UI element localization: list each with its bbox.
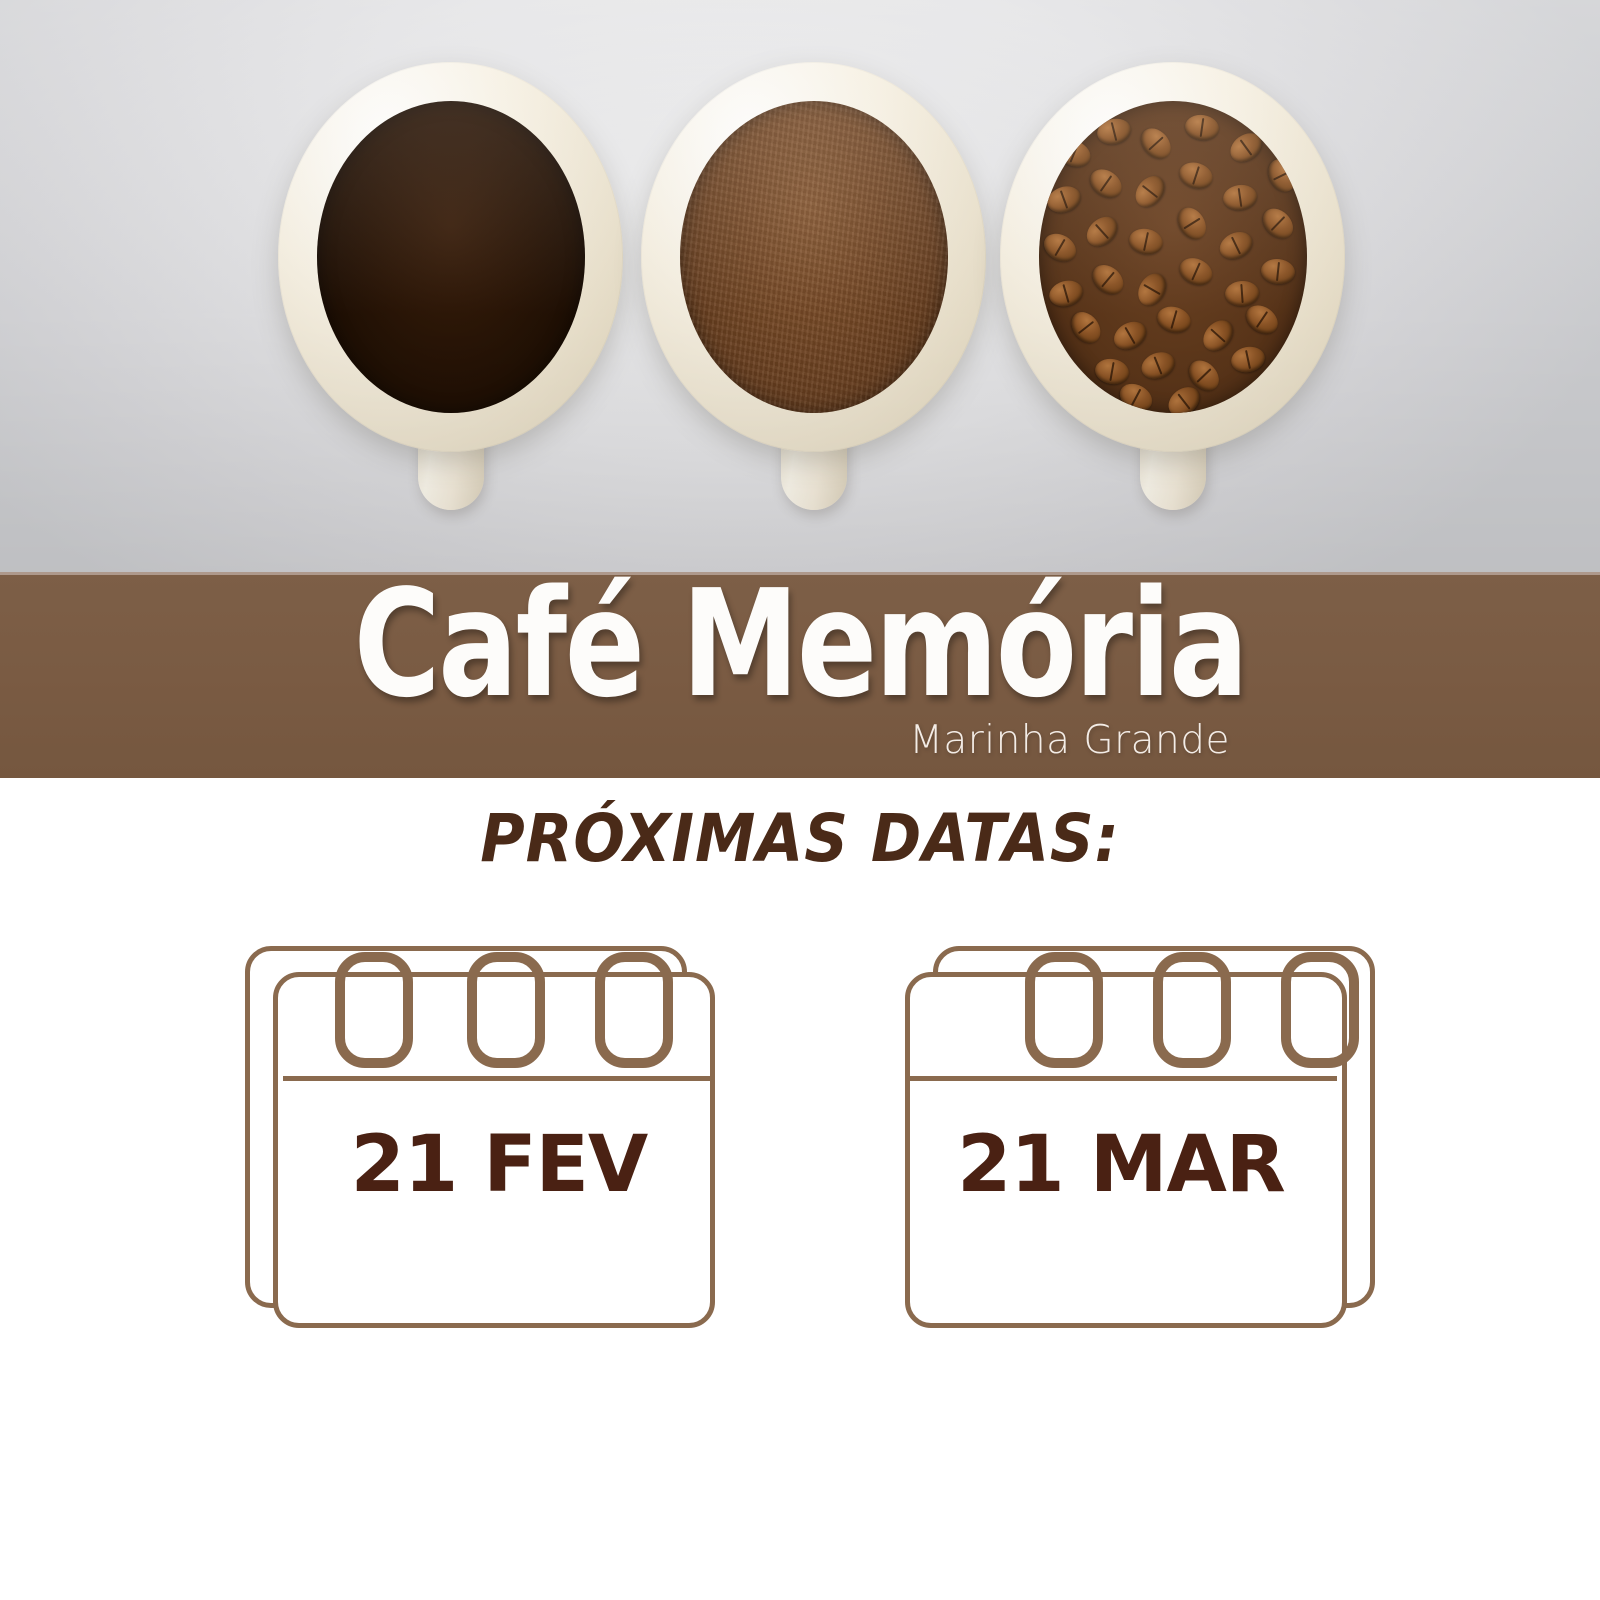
calendar-card-2[interactable]: 21 MAR: [905, 918, 1375, 1318]
coffee-beans-fill: [1039, 101, 1307, 413]
calendar-ring-icon: [1281, 952, 1359, 1068]
coffee-photo-banner: [0, 0, 1600, 572]
next-dates-heading: PRÓXIMAS DATAS:: [64, 800, 1536, 877]
cup-handle-icon: [781, 392, 847, 510]
poster-root: Café Memória Marinha Grande PRÓXIMAS DAT…: [0, 0, 1600, 1600]
calendar-rule-line: [905, 1076, 1337, 1081]
page-title: Café Memória: [160, 552, 1440, 737]
cup-handle-icon: [418, 392, 484, 510]
calendar-card-1[interactable]: 21 FEV: [245, 918, 715, 1318]
cup-body: [1000, 62, 1345, 452]
title-band: Café Memória Marinha Grande: [0, 572, 1600, 778]
calendar-ring-icon: [595, 952, 673, 1068]
calendar-ring-icon: [335, 952, 413, 1068]
calendar-date-text: 21 MAR: [905, 1120, 1337, 1210]
cup-body: [278, 62, 623, 452]
brewed-coffee-fill: [317, 101, 585, 413]
ground-coffee-fill: [680, 101, 948, 413]
calendar-ring-icon: [1025, 952, 1103, 1068]
calendar-date-text: 21 FEV: [283, 1120, 715, 1210]
calendar-ring-icon: [467, 952, 545, 1068]
page-subtitle: Marinha Grande: [909, 718, 1230, 763]
cup-body: [641, 62, 986, 452]
calendar-ring-icon: [1153, 952, 1231, 1068]
cup-handle-icon: [1140, 392, 1206, 510]
content-area: PRÓXIMAS DATAS: 21 FEV 21 MAR UMA INICIA…: [0, 778, 1600, 1600]
calendar-rule-line: [283, 1076, 715, 1081]
